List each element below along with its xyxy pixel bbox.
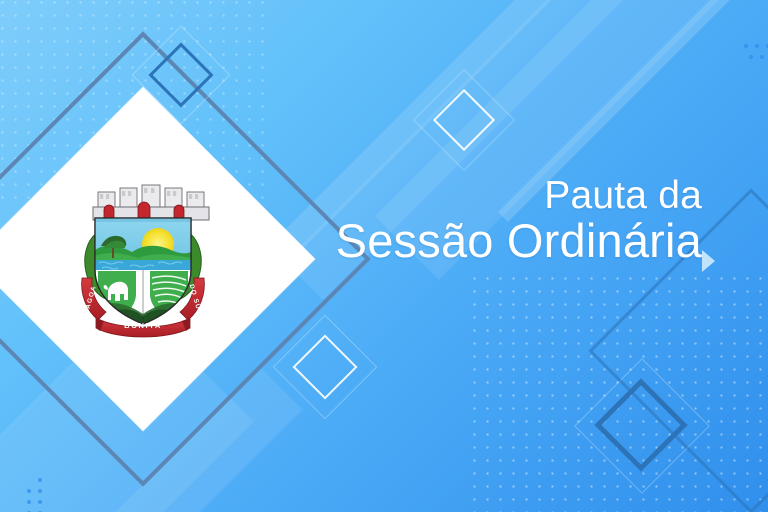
banner-canvas: BONITA LAGOA DO SUL Pauta da Sessão Ordi… — [0, 0, 768, 512]
ribbon-text-center: BONITA — [124, 321, 162, 330]
shield — [95, 218, 191, 326]
coat-of-arms-svg: BONITA LAGOA DO SUL — [58, 174, 228, 344]
coat-of-arms: BONITA LAGOA DO SUL — [58, 174, 228, 344]
page-title-line-1: Pauta da — [282, 176, 702, 217]
page-title-line-2: Sessão Ordinária — [282, 217, 702, 266]
mural-crown — [93, 185, 209, 220]
dot-cluster-bottom-left — [24, 478, 50, 512]
page-title: Pauta da Sessão Ordinária — [282, 176, 702, 265]
chevron-right-icon — [702, 250, 715, 272]
dot-cluster-top-right — [744, 44, 768, 68]
